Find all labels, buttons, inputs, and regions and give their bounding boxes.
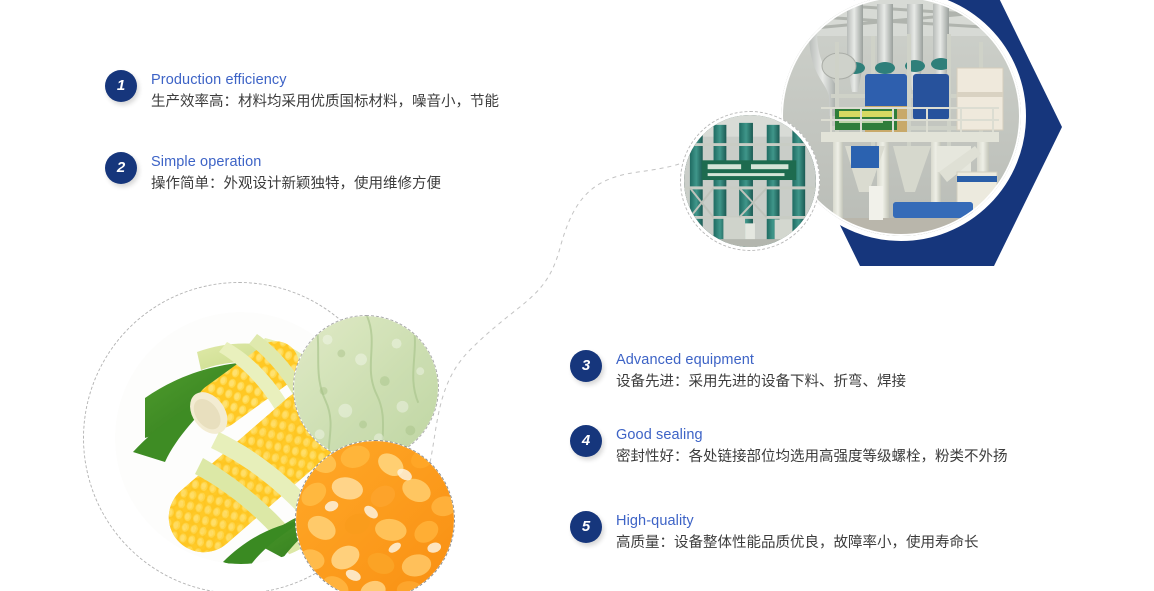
- feature-text-2: Simple operation 操作简单：外观设计新颖独特，使用维修方便: [151, 152, 441, 195]
- feature-badge-4: 4: [570, 425, 602, 457]
- green-machinery-photo: [680, 111, 820, 251]
- feature-desc-1: 生产效率高：材料均采用优质国标材料，噪音小，节能: [151, 92, 499, 113]
- feature-desc-3: 设备先进：采用先进的设备下料、折弯、焊接: [616, 372, 906, 393]
- feature-text-3: Advanced equipment 设备先进：采用先进的设备下料、折弯、焊接: [616, 350, 906, 393]
- feature-desc-2: 操作简单：外观设计新颖独特，使用维修方便: [151, 174, 441, 195]
- feature-desc-4: 密封性好：各处链接部位均选用高强度等级螺栓，粉类不外扬: [616, 447, 1008, 468]
- machine-media-group: [668, 0, 1154, 278]
- feature-title-5: High-quality: [616, 512, 979, 531]
- corn-media-group: [83, 282, 463, 591]
- feature-text-5: High-quality 高质量：设备整体性能品质优良，故障率小，使用寿命长: [616, 511, 979, 554]
- feature-item-2[interactable]: 2 Simple operation 操作简单：外观设计新颖独特，使用维修方便: [105, 152, 441, 195]
- feature-title-2: Simple operation: [151, 153, 441, 172]
- corn-grits-photo: [295, 440, 455, 591]
- infographic-page: 1 Production efficiency 生产效率高：材料均采用优质国标材…: [0, 0, 1154, 591]
- feature-text-1: Production efficiency 生产效率高：材料均采用优质国标材料，…: [151, 70, 499, 113]
- feature-desc-5: 高质量：设备整体性能品质优良，故障率小，使用寿命长: [616, 533, 979, 554]
- feature-badge-2: 2: [105, 152, 137, 184]
- feature-title-3: Advanced equipment: [616, 351, 906, 370]
- feature-badge-1: 1: [105, 70, 137, 102]
- feature-item-3[interactable]: 3 Advanced equipment 设备先进：采用先进的设备下料、折弯、焊…: [570, 350, 906, 393]
- feature-item-5[interactable]: 5 High-quality 高质量：设备整体性能品质优良，故障率小，使用寿命长: [570, 511, 979, 554]
- feature-badge-5: 5: [570, 511, 602, 543]
- feature-badge-3: 3: [570, 350, 602, 382]
- feature-title-4: Good sealing: [616, 426, 1008, 445]
- feature-text-4: Good sealing 密封性好：各处链接部位均选用高强度等级螺栓，粉类不外扬: [616, 425, 1008, 468]
- green-corn-flour-photo: [293, 315, 439, 461]
- feature-item-1[interactable]: 1 Production efficiency 生产效率高：材料均采用优质国标材…: [105, 70, 499, 113]
- feature-title-1: Production efficiency: [151, 71, 499, 90]
- feature-item-4[interactable]: 4 Good sealing 密封性好：各处链接部位均选用高强度等级螺栓，粉类不…: [570, 425, 1008, 468]
